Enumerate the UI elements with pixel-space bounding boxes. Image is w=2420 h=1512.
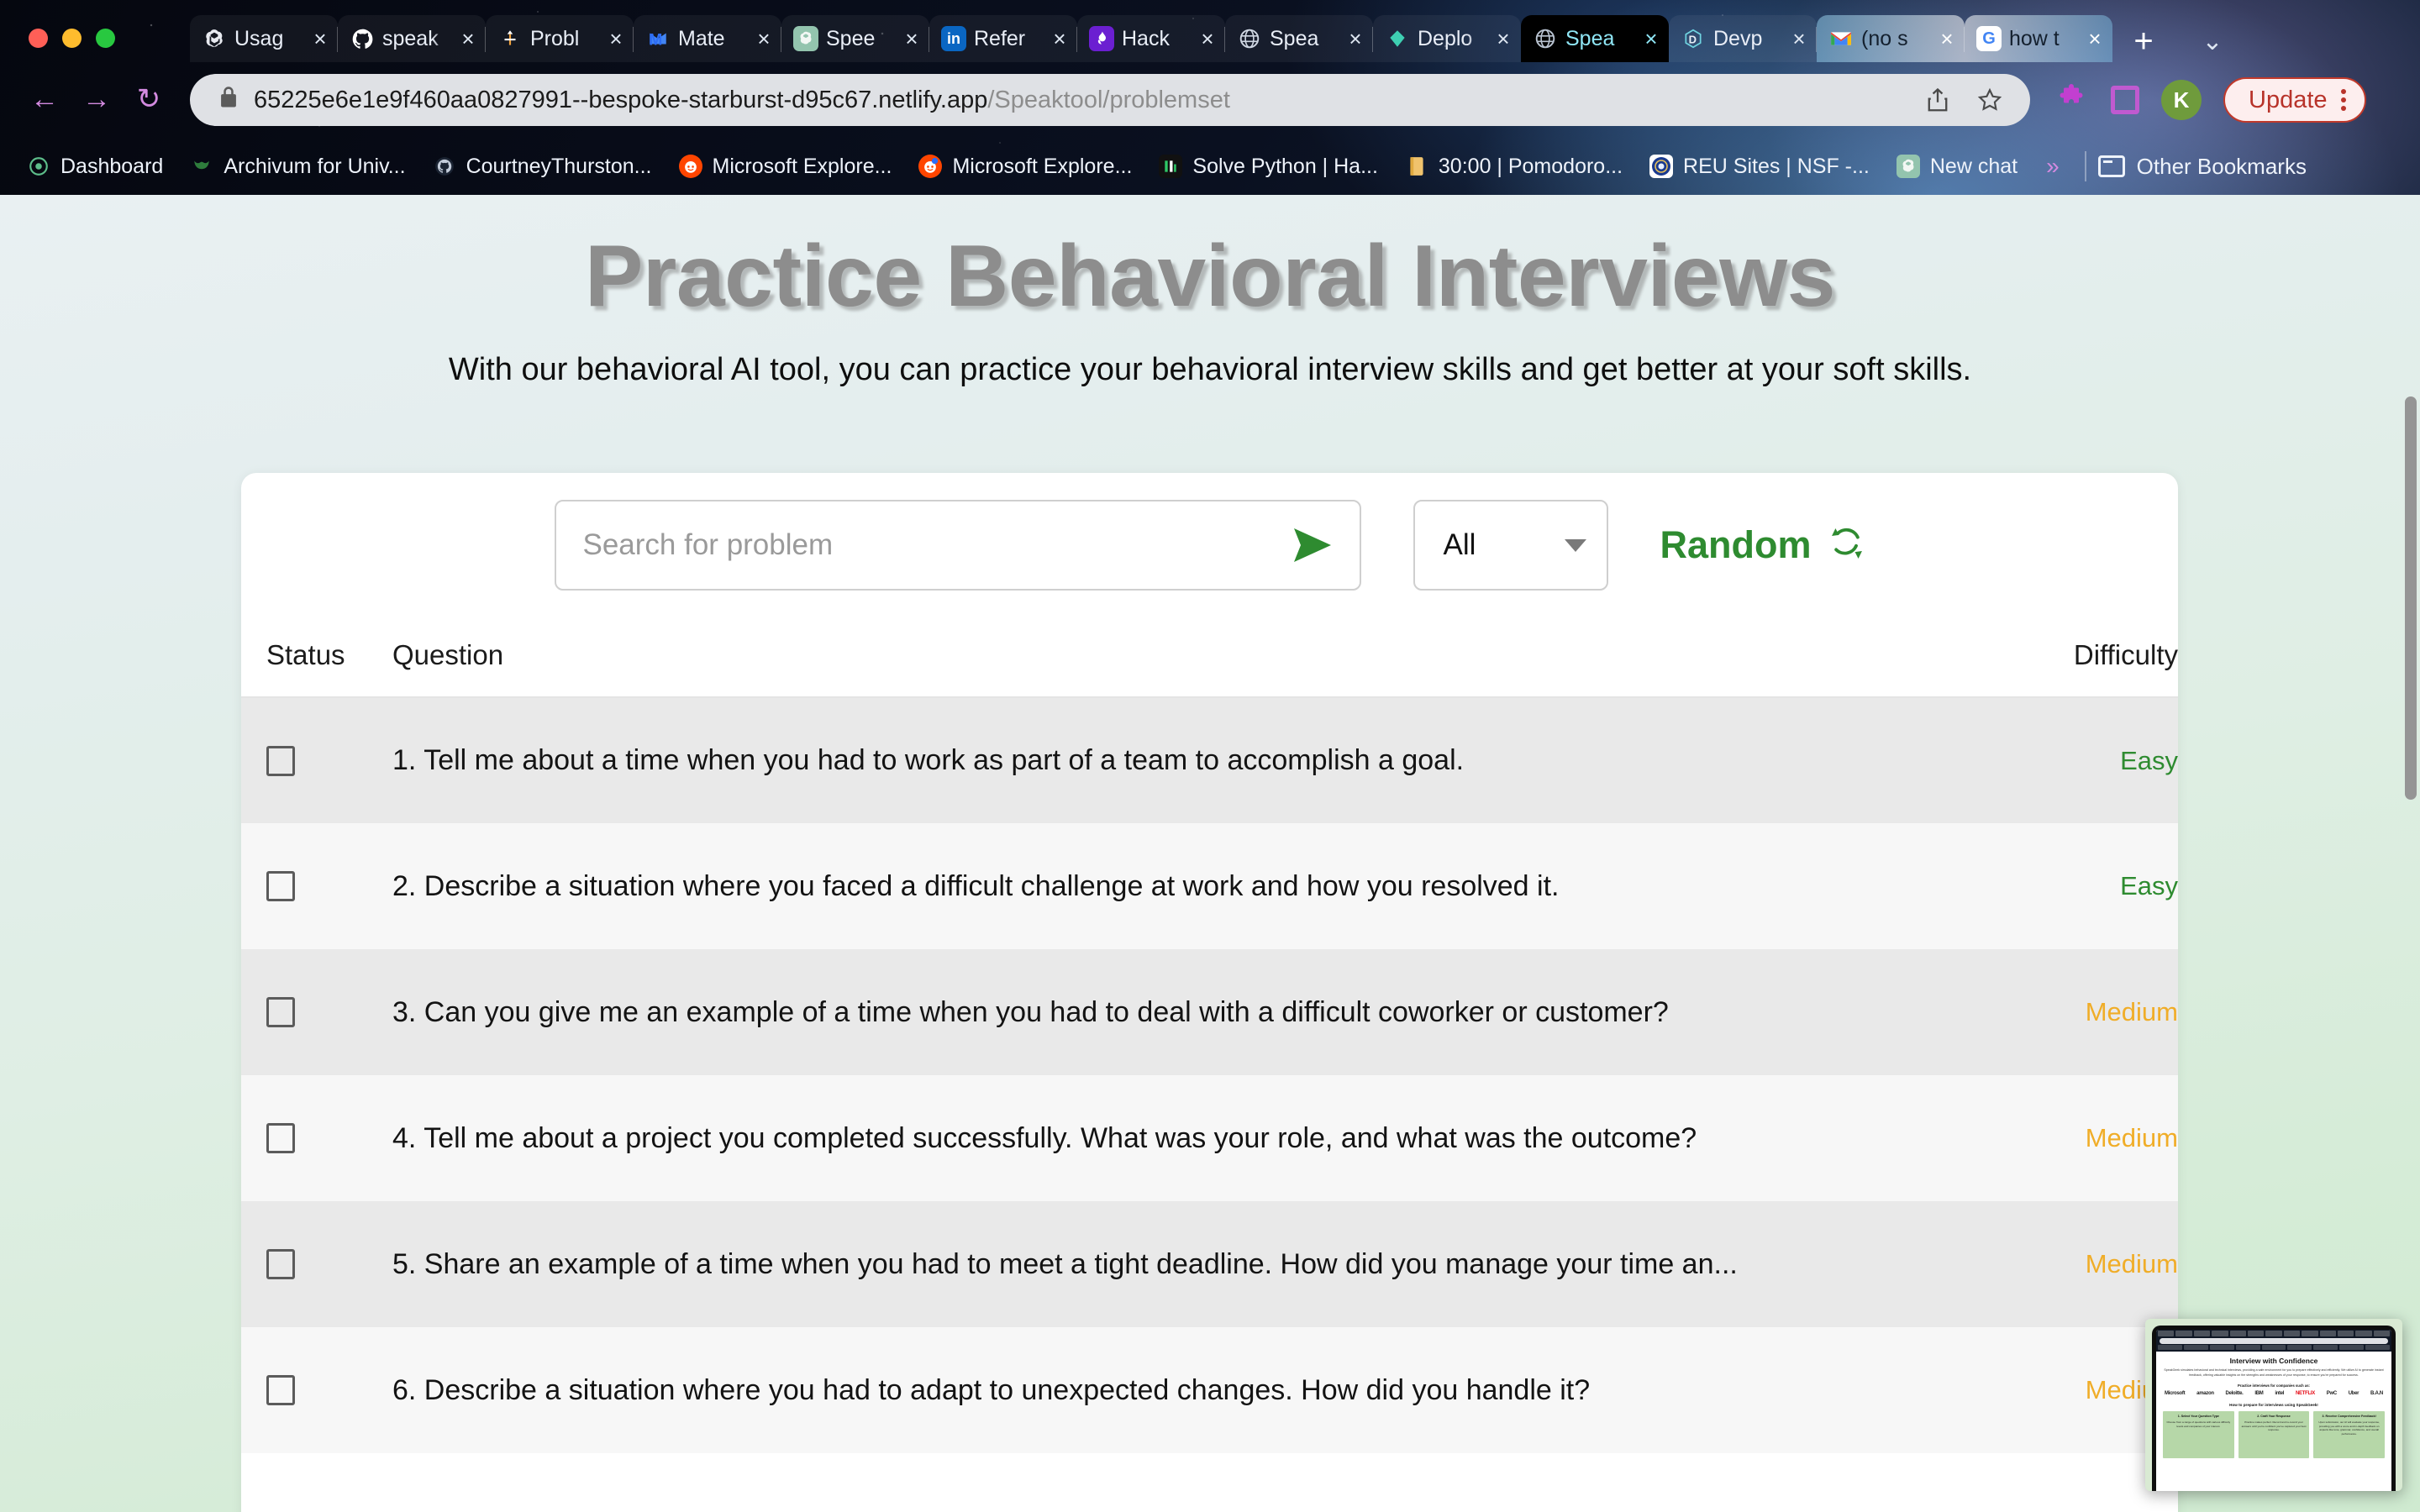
bookmark-label: Microsoft Explore... <box>713 155 892 179</box>
close-tab-button[interactable]: × <box>1494 28 1512 50</box>
netlify-globe-icon <box>1533 26 1558 51</box>
bookmark-item[interactable]: New chat <box>1885 147 2029 186</box>
tab-title: Probl <box>530 27 599 51</box>
pip-step-card: 3. Receive Comprehensive Feedback! Upon … <box>2313 1411 2385 1458</box>
pip-how-heading: How to prepare for interviews using Spea… <box>2163 1403 2385 1407</box>
pip-card-title: 3. Receive Comprehensive Feedback! <box>2316 1415 2382 1418</box>
pip-laptop-frame: Interview with Confidence SpeakGeek simu… <box>2152 1326 2396 1491</box>
browser-tab[interactable]: in Refer × <box>929 15 1077 62</box>
table-row[interactable]: 6. Describe a situation where you had to… <box>241 1327 2178 1453</box>
tab-title: (no s <box>1861 27 1930 51</box>
folder-icon <box>2098 155 2125 177</box>
tab-title: Deplo <box>1418 27 1486 51</box>
svg-text:M: M <box>649 31 662 50</box>
send-arrow-icon[interactable] <box>1289 522 1336 569</box>
picture-in-picture-preview[interactable]: Interview with Confidence SpeakGeek simu… <box>2145 1319 2402 1491</box>
pip-address-bar <box>2160 1338 2388 1344</box>
browser-tab[interactable]: Usag × <box>190 15 338 62</box>
pip-browser-chrome <box>2156 1330 2391 1352</box>
pip-tab-row <box>2156 1330 2391 1337</box>
status-cell <box>241 1327 392 1453</box>
bookmark-item[interactable]: Solve Python | Ha... <box>1147 147 1390 186</box>
chevron-down-icon <box>1565 539 1586 552</box>
question-cell[interactable]: 1. Tell me about a time when you had to … <box>392 697 1960 823</box>
pip-card-body: Choose from a range of questions with va… <box>2165 1420 2232 1428</box>
other-bookmarks-label: Other Bookmarks <box>2137 154 2307 180</box>
github-icon <box>350 26 375 51</box>
browser-tab[interactable]: D Devp × <box>1669 15 1817 62</box>
table-head: Status Question Difficulty <box>241 617 2178 697</box>
question-cell[interactable]: 4. Tell me about a project you completed… <box>392 1075 1960 1201</box>
reddit-icon <box>679 155 702 178</box>
pip-page-body: Interview with Confidence SpeakGeek simu… <box>2156 1352 2391 1463</box>
bookmark-label: Dashboard <box>60 155 163 179</box>
table-row[interactable]: 5. Share an example of a time when you h… <box>241 1201 2178 1327</box>
status-cell <box>241 823 392 949</box>
hackerrank-icon <box>1159 155 1182 178</box>
table-header-row: Status Question Difficulty <box>241 617 2178 697</box>
pip-step-card: 1. Select Your Question Type Choose from… <box>2163 1411 2234 1458</box>
close-tab-button[interactable]: × <box>1050 28 1069 50</box>
svg-text:D: D <box>1689 33 1697 45</box>
tab-title: Refer <box>974 27 1043 51</box>
close-tab-button[interactable]: × <box>1790 28 1808 50</box>
bookmark-label: New chat <box>1930 155 2018 179</box>
status-checkbox[interactable] <box>266 1123 295 1153</box>
close-tab-button[interactable]: × <box>1938 28 1956 50</box>
minimize-window-button[interactable] <box>62 29 82 48</box>
browser-tab[interactable]: (no s × <box>1817 15 1965 62</box>
browser-tab[interactable]: Hack × <box>1077 15 1225 62</box>
pip-companies-heading: Practice interviews for companies such a… <box>2163 1383 2385 1388</box>
pip-card-title: 1. Select Your Question Type <box>2165 1415 2232 1418</box>
page-content: Practice Behavioral Interviews With our … <box>0 195 2420 1512</box>
browser-tab[interactable]: Deplo × <box>1373 15 1521 62</box>
table-row[interactable]: 4. Tell me about a project you completed… <box>241 1075 2178 1201</box>
hero-section: Practice Behavioral Interviews With our … <box>0 195 2420 388</box>
bookmark-label: Solve Python | Ha... <box>1192 155 1378 179</box>
pip-screen: Interview with Confidence SpeakGeek simu… <box>2156 1330 2391 1491</box>
question-cell[interactable]: 3. Can you give me an example of a time … <box>392 949 1960 1075</box>
devpost-icon: D <box>1681 26 1706 51</box>
random-label: Random <box>1660 523 1812 567</box>
tab-title: Spea <box>1565 27 1634 51</box>
openai-icon <box>793 26 818 51</box>
browser-tab[interactable]: Spea × <box>1225 15 1373 62</box>
browser-tab[interactable]: M Mate × <box>634 15 781 62</box>
status-checkbox[interactable] <box>266 1375 295 1405</box>
tab-title: speak <box>382 27 451 51</box>
page-scrollbar[interactable] <box>2405 396 2417 800</box>
browser-tab[interactable]: G how t × <box>1965 15 2112 62</box>
close-tab-button[interactable]: × <box>1642 28 1660 50</box>
tab-strip: Usag × speak × Probl × M Mate × <box>190 12 2420 62</box>
status-checkbox[interactable] <box>266 1249 295 1279</box>
status-cell <box>241 1075 392 1201</box>
bookmark-label: Microsoft Explore... <box>952 155 1132 179</box>
controls-bar: All Random <box>241 473 2178 617</box>
difficulty-filter-select[interactable]: All <box>1413 500 1608 591</box>
pip-card-body: Upon submission, our AI will evaluate yo… <box>2316 1420 2382 1436</box>
bookmarks-bar: Dashboard Archivum for Univ... CourtneyT… <box>0 143 2420 190</box>
reload-button[interactable]: ↻ <box>123 73 175 125</box>
status-cell <box>241 1201 392 1327</box>
bookmark-label: REU Sites | NSF -... <box>1683 155 1870 179</box>
tab-title: Spee <box>826 27 895 51</box>
bookmark-item[interactable]: 30:00 | Pomodoro... <box>1393 147 1634 186</box>
random-button[interactable]: Random <box>1660 523 1865 567</box>
google-icon: G <box>1976 26 2002 51</box>
pomodoro-icon <box>1405 155 1428 178</box>
openai-icon <box>202 26 227 51</box>
bookmark-item[interactable]: Archivum for Univ... <box>178 147 417 186</box>
close-tab-button[interactable]: × <box>607 28 625 50</box>
table-body: 1. Tell me about a time when you had to … <box>241 697 2178 1453</box>
tab-title: Hack <box>1122 27 1191 51</box>
difficulty-badge: Medium <box>1960 949 2178 1075</box>
bookmark-item[interactable]: Dashboard <box>15 147 175 186</box>
close-window-button[interactable] <box>29 29 48 48</box>
status-cell <box>241 949 392 1075</box>
company-logo: Uber <box>2349 1391 2359 1396</box>
close-tab-button[interactable]: × <box>755 28 773 50</box>
difficulty-badge: Medium <box>1960 1075 2178 1201</box>
bookmark-item[interactable]: CourtneyThurston... <box>421 147 664 186</box>
tab-title: Devp <box>1713 27 1782 51</box>
netlify-icon <box>1385 26 1410 51</box>
company-logo: intel <box>2275 1391 2284 1396</box>
pip-subtitle: SpeakGeek simulates behavioral and techn… <box>2163 1368 2385 1378</box>
browser-tab[interactable]: speak × <box>338 15 486 62</box>
company-logo: IBM <box>2254 1391 2263 1396</box>
linkedin-icon: in <box>941 26 966 51</box>
bookmarks-overflow-button[interactable]: » <box>2033 153 2073 180</box>
tab-title: Usag <box>234 27 303 51</box>
browser-tab[interactable]: Probl × <box>486 15 634 62</box>
bookmarks-divider <box>2085 151 2086 181</box>
column-header-difficulty: Difficulty <box>1960 617 2178 697</box>
column-header-status: Status <box>241 617 392 697</box>
netlify-globe-icon <box>1237 26 1262 51</box>
forward-button[interactable]: → <box>71 73 123 125</box>
hackathon-icon <box>1089 26 1114 51</box>
table-row[interactable]: 2. Describe a situation where you faced … <box>241 823 2178 949</box>
company-logo: Deloitte. <box>2226 1391 2244 1396</box>
question-cell[interactable]: 2. Describe a situation where you faced … <box>392 823 1960 949</box>
pip-title: Interview with Confidence <box>2163 1357 2385 1365</box>
close-tab-button[interactable]: × <box>1346 28 1365 50</box>
search-input[interactable] <box>583 528 1289 562</box>
bookmark-item[interactable]: Microsoft Explore... <box>667 147 904 186</box>
difficulty-badge: Easy <box>1960 697 2178 823</box>
bookmark-label: CourtneyThurston... <box>466 155 652 179</box>
pip-card-body: Practice makes perfect. Record and re-re… <box>2241 1420 2307 1432</box>
search-box[interactable] <box>555 500 1361 591</box>
bookmark-item[interactable]: Microsoft Explore... <box>907 147 1144 186</box>
column-header-question: Question <box>392 617 1960 697</box>
company-logo: amazon <box>2196 1391 2214 1396</box>
pip-step-card: 2. Craft Your Response Practice makes pe… <box>2238 1411 2310 1458</box>
question-cell[interactable]: 6. Describe a situation where you had to… <box>392 1327 1960 1453</box>
gmail-icon <box>1828 26 1854 51</box>
table-row[interactable]: 1. Tell me about a time when you had to … <box>241 697 2178 823</box>
filter-selected-value: All <box>1444 528 1476 562</box>
difficulty-badge: Medium <box>1960 1201 2178 1327</box>
close-tab-button[interactable]: × <box>2086 28 2104 50</box>
pip-card-title: 2. Craft Your Response <box>2241 1415 2307 1418</box>
page-subtitle: With our behavioral AI tool, you can pra… <box>0 352 2420 388</box>
usf-dashboard-icon <box>27 155 50 178</box>
bookmark-label: 30:00 | Pomodoro... <box>1439 155 1623 179</box>
tab-search-menu-button[interactable]: ⌄ <box>2175 20 2250 62</box>
browser-tab[interactable]: Spee × <box>781 15 929 62</box>
status-checkbox[interactable] <box>266 746 295 776</box>
browser-window: Usag × speak × Probl × M Mate × <box>0 0 2420 1512</box>
other-bookmarks-button[interactable]: Other Bookmarks <box>2098 154 2307 180</box>
company-logo: NETFLIX <box>2296 1391 2315 1396</box>
nsf-icon <box>1649 155 1673 178</box>
back-button[interactable]: ← <box>18 73 71 125</box>
anchor-icon <box>497 26 523 51</box>
gmail-icon: M <box>645 26 671 51</box>
status-checkbox[interactable] <box>266 871 295 901</box>
github-icon <box>433 155 456 178</box>
close-tab-button[interactable]: × <box>459 28 477 50</box>
new-tab-button[interactable]: + <box>2112 20 2175 62</box>
bull-icon <box>190 155 213 178</box>
browser-tab-active[interactable]: Spea × <box>1521 15 1669 62</box>
refresh-icon <box>1828 525 1865 566</box>
browser-toolbar: ← → ↻ <box>0 67 2420 131</box>
maximize-window-button[interactable] <box>96 29 115 48</box>
company-logo: B.A.N <box>2370 1391 2383 1396</box>
company-logo: PwC <box>2327 1391 2337 1396</box>
close-tab-button[interactable]: × <box>902 28 921 50</box>
company-logo: Microsoft <box>2165 1391 2185 1396</box>
tab-title: Mate <box>678 27 747 51</box>
tab-title: how t <box>2009 27 2078 51</box>
status-cell <box>241 697 392 823</box>
pip-company-logos: Microsoft amazon Deloitte. IBM intel NET… <box>2163 1391 2385 1396</box>
openai-icon <box>1897 155 1920 178</box>
reddit-icon <box>918 155 942 178</box>
bookmark-label: Archivum for Univ... <box>224 155 405 179</box>
status-checkbox[interactable] <box>266 997 295 1027</box>
question-cell[interactable]: 5. Share an example of a time when you h… <box>392 1201 1960 1327</box>
difficulty-badge: Easy <box>1960 823 2178 949</box>
tab-title: Spea <box>1270 27 1339 51</box>
page-title: Practice Behavioral Interviews <box>0 225 2420 328</box>
pip-step-cards: 1. Select Your Question Type Choose from… <box>2163 1411 2385 1458</box>
close-tab-button[interactable]: × <box>311 28 329 50</box>
window-controls <box>29 29 115 48</box>
close-tab-button[interactable]: × <box>1198 28 1217 50</box>
problemset-table: Status Question Difficulty 1. Tell me ab… <box>241 617 2178 1453</box>
table-row[interactable]: 3. Can you give me an example of a time … <box>241 949 2178 1075</box>
pip-bookmarks-bar <box>2156 1345 2391 1351</box>
problemset-card: All Random <box>241 473 2178 1512</box>
bookmark-item[interactable]: REU Sites | NSF -... <box>1638 147 1881 186</box>
